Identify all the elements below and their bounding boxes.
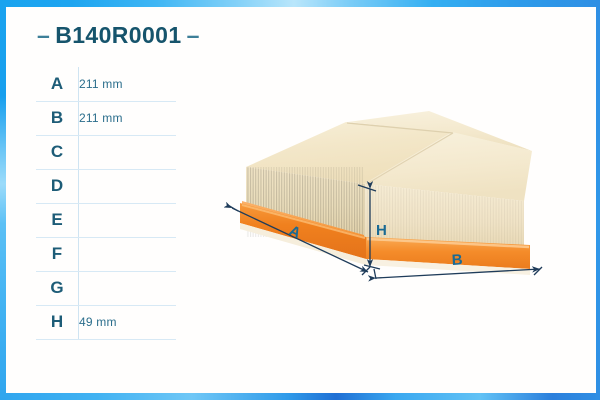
dimension-label-h: H: [376, 222, 387, 239]
frame-right-border: [596, 0, 600, 400]
dimension-key: C: [36, 135, 79, 169]
dimension-value: [79, 169, 177, 203]
table-row: H 49 mm: [36, 305, 176, 339]
dimension-key: E: [36, 203, 79, 237]
table-row: F: [36, 237, 176, 271]
dimension-value: [79, 237, 177, 271]
dimension-table: A 211 mm B 211 mm C D E: [36, 67, 176, 340]
table-row: A 211 mm: [36, 67, 176, 101]
dimension-key: F: [36, 237, 79, 271]
dimension-label-b: B: [451, 251, 463, 269]
part-number: B140R0001: [55, 22, 181, 48]
dimension-key: H: [36, 305, 79, 339]
frame-top-border: [0, 0, 600, 7]
dimension-key: G: [36, 271, 79, 305]
table-row: D: [36, 169, 176, 203]
product-spec-card: –B140R0001– A 211 mm B 211 mm C D: [0, 0, 600, 400]
table-row: G: [36, 271, 176, 305]
dimension-value: 49 mm: [79, 305, 177, 339]
dimension-value: [79, 135, 177, 169]
frame-bottom-border: [0, 393, 600, 400]
table-row: B 211 mm: [36, 101, 176, 135]
title-dash-right: –: [182, 22, 205, 48]
table-row: E: [36, 203, 176, 237]
dimension-b-extension-end: [534, 267, 542, 275]
dimension-key: D: [36, 169, 79, 203]
title-dash-left: –: [32, 22, 55, 48]
table-row: C: [36, 135, 176, 169]
dimension-b-extension-start: [374, 269, 376, 279]
dimension-key: A: [36, 67, 79, 101]
air-filter-illustration: A B H: [224, 89, 574, 319]
page-title: –B140R0001–: [32, 22, 205, 49]
card-content: –B140R0001– A 211 mm B 211 mm C D: [6, 7, 596, 393]
dimension-value: 211 mm: [79, 101, 177, 135]
dimension-value: 211 mm: [79, 67, 177, 101]
dimension-value: [79, 203, 177, 237]
dimension-value: [79, 271, 177, 305]
filter-body: [240, 111, 532, 275]
dimension-key: B: [36, 101, 79, 135]
